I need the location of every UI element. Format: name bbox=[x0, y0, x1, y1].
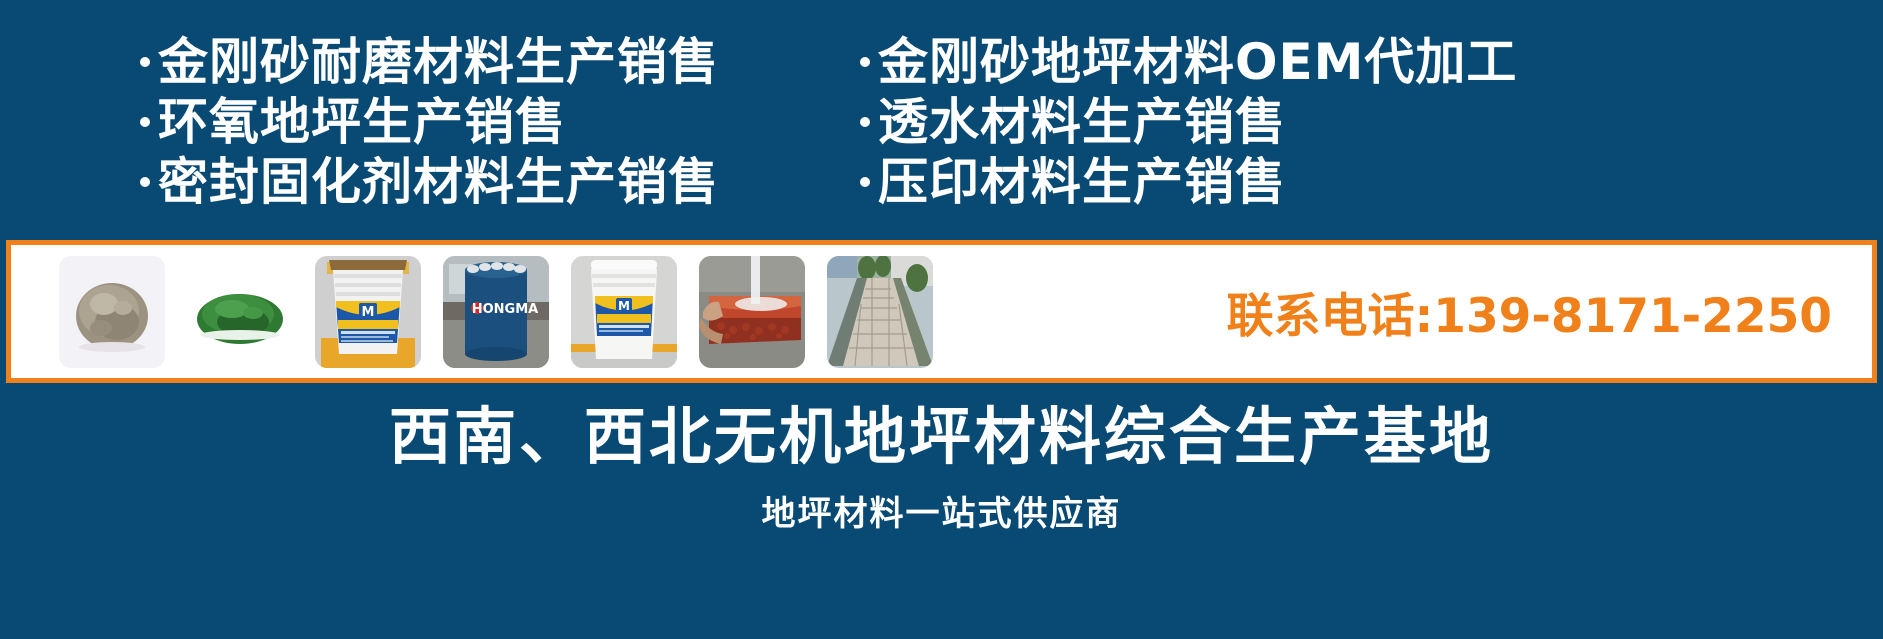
product-thumb-green-abrasive-powder[interactable] bbox=[187, 256, 293, 368]
svg-text:HONGMA: HONGMA bbox=[472, 302, 538, 317]
product-thumb-gray-abrasive-powder[interactable] bbox=[59, 256, 165, 368]
product-strip: M bbox=[6, 240, 1877, 383]
product-thumb-permeable-pavement-sample[interactable] bbox=[699, 256, 805, 368]
subtitle: 地坪材料一站式供应商 bbox=[762, 486, 1122, 535]
services-section: 金刚砂耐磨材料生产销售 环氧地坪生产销售 密封固化剂材料生产销售 金刚砂地坪材料… bbox=[0, 0, 1883, 236]
bullet-dot-icon bbox=[140, 117, 150, 127]
product-thumb-hongma-steel-drum[interactable]: HONGMA bbox=[443, 256, 549, 368]
service-label: 环氧地坪生产销售 bbox=[158, 94, 566, 150]
service-label: 透水材料生产销售 bbox=[878, 94, 1286, 150]
product-thumb-epoxy-floor-coating-pail[interactable]: M bbox=[571, 256, 677, 368]
product-thumbnail-list: M bbox=[59, 256, 933, 368]
bullet-dot-icon bbox=[860, 177, 870, 187]
bullet-dot-icon bbox=[140, 57, 150, 67]
service-item: 金刚砂耐磨材料生产销售 bbox=[140, 34, 840, 90]
services-left-column: 金刚砂耐磨材料生产销售 环氧地坪生产销售 密封固化剂材料生产销售 bbox=[140, 34, 840, 210]
service-item: 环氧地坪生产销售 bbox=[140, 94, 840, 150]
services-right-column: 金刚砂地坪材料OEM代加工 透水材料生产销售 压印材料生产销售 bbox=[860, 34, 1517, 210]
service-item: 透水材料生产销售 bbox=[860, 94, 1517, 150]
footer-section: 西南、西北无机地坪材料综合生产基地 地坪材料一站式供应商 bbox=[0, 383, 1883, 639]
service-label: 压印材料生产销售 bbox=[878, 154, 1286, 210]
service-item: 密封固化剂材料生产销售 bbox=[140, 154, 840, 210]
bullet-dot-icon bbox=[860, 57, 870, 67]
service-label: 金刚砂地坪材料OEM代加工 bbox=[878, 34, 1517, 90]
headline: 西南、西北无机地坪材料综合生产基地 bbox=[389, 401, 1494, 472]
service-label: 金刚砂耐磨材料生产销售 bbox=[158, 34, 719, 90]
product-thumb-sealer-curing-agent-pail[interactable]: M bbox=[315, 256, 421, 368]
promo-banner: 金刚砂耐磨材料生产销售 环氧地坪生产销售 密封固化剂材料生产销售 金刚砂地坪材料… bbox=[0, 0, 1883, 639]
service-label: 密封固化剂材料生产销售 bbox=[158, 154, 719, 210]
contact-phone[interactable]: 联系电话:139-8171-2250 bbox=[1226, 277, 1832, 346]
service-item: 压印材料生产销售 bbox=[860, 154, 1517, 210]
svg-text:M: M bbox=[618, 299, 630, 313]
service-item: 金刚砂地坪材料OEM代加工 bbox=[860, 34, 1517, 90]
bullet-dot-icon bbox=[140, 177, 150, 187]
bullet-dot-icon bbox=[860, 117, 870, 127]
product-thumb-stamped-concrete-walkway[interactable] bbox=[827, 256, 933, 368]
svg-text:M: M bbox=[362, 305, 375, 320]
